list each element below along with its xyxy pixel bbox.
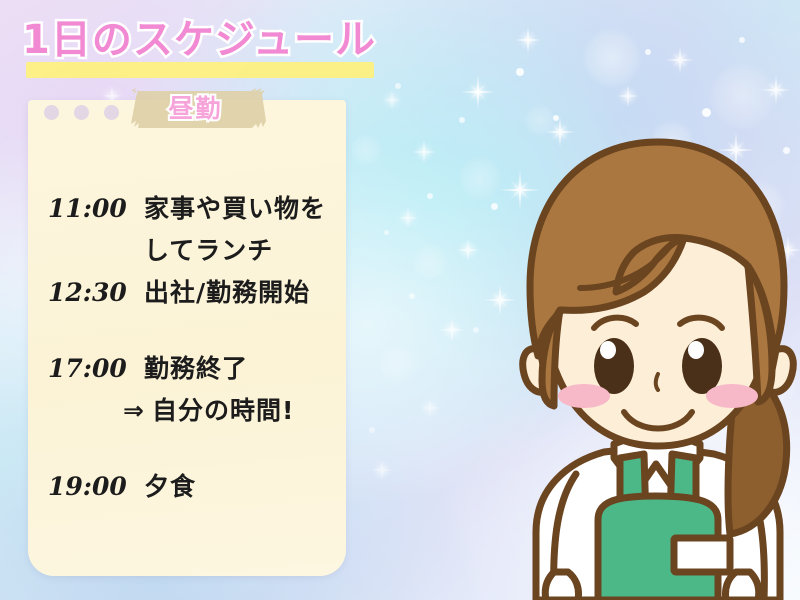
punch-hole-icon [44, 105, 59, 120]
sparkle-dot-icon [739, 37, 745, 43]
bokeh-circle-icon [582, 28, 642, 88]
sparkle-dot-icon [645, 49, 651, 55]
schedule-row: 17:00勤務終了 [48, 348, 338, 390]
sparkle-dot-icon [516, 68, 524, 76]
sparkle-dot-icon [459, 117, 465, 123]
schedule-event: 自分の時間! [152, 390, 294, 432]
star-sparkle-icon [383, 91, 401, 109]
arrow-icon: ⇒ [48, 390, 152, 432]
schedule-spacer [48, 432, 338, 466]
sparkle-dot-icon [702, 108, 711, 117]
schedule-time: 17:00 [48, 348, 144, 390]
schedule-time: 19:00 [48, 466, 144, 508]
schedule-spacer [48, 314, 338, 348]
poster-title-group: 1日のスケジュール [22, 20, 376, 60]
sparkle-dot-icon [384, 230, 389, 235]
title-highlight-bar [26, 62, 374, 78]
star-sparkle-icon [761, 75, 791, 105]
punch-hole-icon [104, 105, 119, 120]
schedule-row: 12:30出社/勤務開始 [48, 272, 338, 314]
page-title: 1日のスケジュール [22, 20, 376, 60]
star-sparkle-icon [372, 460, 392, 480]
bokeh-circle-icon [350, 134, 382, 166]
schedule-event: 家事や買い物を [144, 188, 326, 230]
schedule-poster: 昼勤 1日のスケジュール 11:00家事や買い物を00:00してランチ12:30… [0, 0, 800, 600]
star-sparkle-icon [515, 27, 541, 53]
schedule-event: 夕食 [144, 466, 196, 508]
sparkle-dot-icon [395, 83, 401, 89]
character-illustration [408, 128, 800, 600]
star-sparkle-icon [617, 85, 639, 107]
punch-hole-icon [74, 105, 89, 120]
schedule-list: 11:00家事や買い物を00:00してランチ12:30出社/勤務開始17:00勤… [48, 188, 338, 508]
star-sparkle-icon [461, 75, 495, 109]
schedule-row: 11:00家事や買い物を [48, 188, 338, 230]
schedule-event: 勤務終了 [144, 348, 248, 390]
schedule-row: 00:00してランチ [48, 230, 338, 272]
schedule-event: してランチ [144, 230, 273, 272]
schedule-row: ⇒自分の時間! [48, 390, 338, 432]
schedule-row: 19:00夕食 [48, 466, 338, 508]
schedule-event: 出社/勤務開始 [144, 272, 310, 314]
washi-tape: 昼勤 [125, 88, 266, 128]
shift-label: 昼勤 [125, 88, 266, 128]
schedule-time: 12:30 [48, 272, 144, 314]
star-sparkle-icon [666, 46, 694, 74]
schedule-time: 11:00 [48, 188, 144, 230]
sparkle-dot-icon [369, 427, 375, 433]
